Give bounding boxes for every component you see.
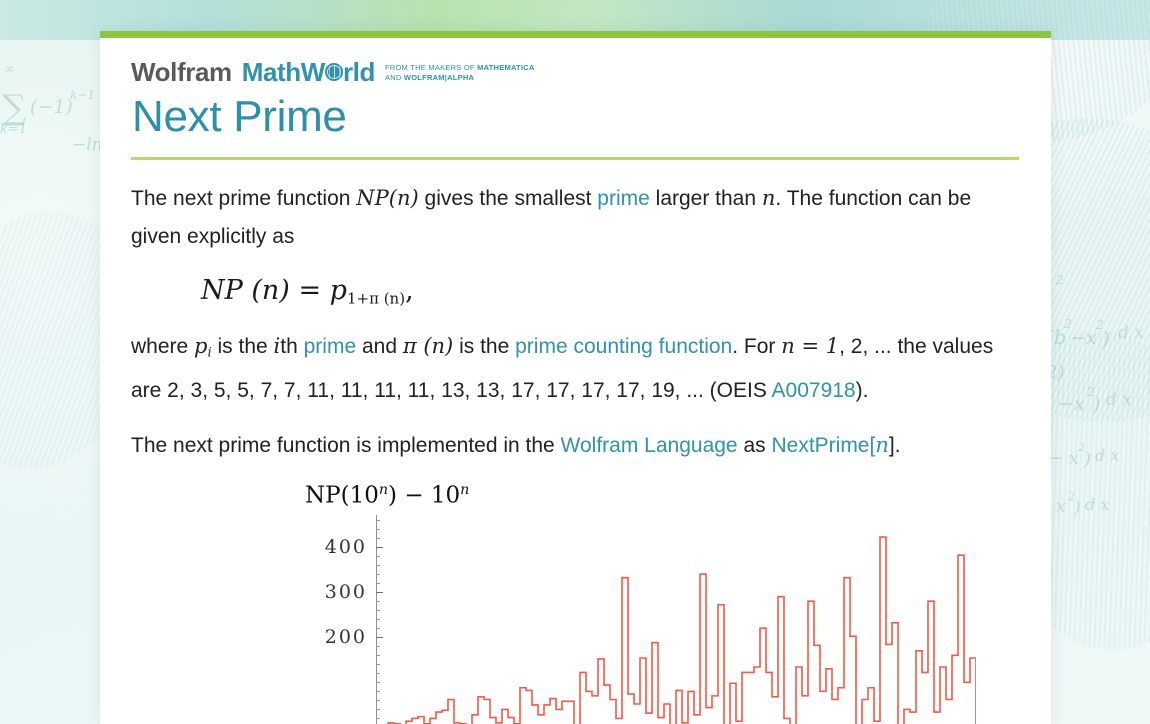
tagline-text: FROM THE MAKERS OF: [385, 63, 477, 72]
tagline-wolfram-alpha: WOLFRAM|ALPHA: [404, 73, 474, 82]
logo-mathworld-text: MathW rld: [242, 59, 375, 85]
plot-series-svg: [376, 515, 976, 724]
background-formula-fragment: x: [1056, 497, 1066, 517]
equation-lhs: NP (n): [201, 275, 290, 306]
tagline-line-1: FROM THE MAKERS OF MATHEMATICA: [385, 63, 535, 73]
tagline-text: AND: [385, 73, 404, 82]
text-run: as: [738, 434, 772, 457]
link-nextprime[interactable]: NextPrime: [771, 434, 869, 457]
figure-next-prime-plot: NP(10n) − 10n 200300400: [131, 479, 1020, 724]
text-run: and: [356, 335, 403, 358]
background-formula-fragment: k=1: [0, 122, 27, 137]
equation-rhs-base: p: [330, 275, 347, 306]
link-prime[interactable]: prime: [597, 187, 650, 210]
background-formula-fragment: d x: [1106, 390, 1132, 410]
globe-icon: [325, 63, 343, 81]
math-n-arg: (n): [389, 186, 419, 210]
text-run: ].: [889, 434, 901, 457]
logo-wolfram-text: Wolfram: [131, 59, 232, 85]
text-run: is the: [212, 335, 274, 358]
background-formula-fragment: − x: [1048, 448, 1079, 469]
tagline-line-2: AND WOLFRAM|ALPHA: [385, 73, 535, 83]
title-divider: [131, 157, 1019, 160]
background-formula-fragment: ): [1093, 394, 1100, 416]
equation-rhs-subscript: 1+π (n): [347, 290, 405, 308]
link-prime-counting-function[interactable]: prime counting function: [515, 335, 732, 358]
math-p: p: [194, 334, 207, 358]
text-run: where: [131, 335, 194, 358]
background-formula-fragment: (−1): [30, 96, 73, 118]
page-title: Next Prime: [132, 94, 1020, 140]
background-formula-fragment: d x: [1095, 446, 1119, 465]
y-axis-tick-label: 400: [325, 536, 376, 558]
background-formula-fragment: k−1: [70, 88, 95, 102]
math-np: NP: [356, 186, 389, 210]
link-prime-2[interactable]: prime: [304, 335, 357, 358]
background-formula-fragment: −ln: [72, 135, 103, 155]
math-n-equals-1: n = 1: [781, 334, 839, 358]
text-run: th: [280, 335, 303, 358]
background-formula-fragment: d x: [1118, 323, 1144, 343]
background-formula-fragment: ∞: [4, 62, 15, 77]
paragraph-implementation: The next prime function is implemented i…: [131, 426, 1020, 465]
equation-trailing-comma: ,: [405, 275, 414, 306]
link-wolfram-language[interactable]: Wolfram Language: [561, 434, 738, 457]
paragraph-definition: The next prime function NP(n) gives the …: [131, 179, 1020, 256]
y-axis-tick-label: 200: [325, 626, 376, 648]
text-run: larger than: [650, 187, 762, 210]
math-n-arg-2: n: [875, 433, 889, 457]
paragraph-where: where pi is the ith prime and π (n) is t…: [131, 327, 1020, 411]
background-formula-fragment: ): [1102, 327, 1110, 351]
text-run: The next prime function: [131, 187, 356, 210]
display-equation: NP (n) = p1+π (n),: [201, 275, 1020, 308]
background-formula-fragment: 2: [1056, 273, 1064, 287]
math-pi-n: π (n): [403, 334, 453, 358]
site-tagline: FROM THE MAKERS OF MATHEMATICA AND WOLFR…: [385, 63, 535, 82]
background-formula-fragment: −x: [1070, 327, 1097, 349]
plot-area: 200300400: [376, 515, 976, 724]
figure-title: NP(10n) − 10n: [305, 482, 469, 509]
text-run: . For: [732, 335, 781, 358]
math-n: n: [762, 186, 776, 210]
text-run: The next prime function is implemented i…: [131, 434, 561, 457]
y-axis-tick-label: 300: [325, 581, 376, 603]
site-masthead[interactable]: Wolfram MathW rld FROM THE MAKERS OF MAT…: [131, 38, 1020, 85]
background-formula-fragment: ): [1084, 449, 1091, 470]
background-formula-fragment: ): [1074, 498, 1081, 518]
text-run: is the: [453, 335, 515, 358]
equation-equals: =: [298, 275, 321, 306]
logo-mathworld-part-a: MathW: [242, 59, 325, 85]
link-oeis-a007918[interactable]: A007918: [772, 379, 856, 402]
content-card: Wolfram MathW rld FROM THE MAKERS OF MAT…: [100, 31, 1051, 724]
text-run: ).: [856, 379, 869, 402]
logo-mathworld-part-b: rld: [343, 59, 375, 85]
text-run: gives the smallest: [419, 187, 598, 210]
tagline-mathematica: MATHEMATICA: [477, 63, 534, 72]
background-formula-fragment: d x: [1085, 495, 1109, 514]
